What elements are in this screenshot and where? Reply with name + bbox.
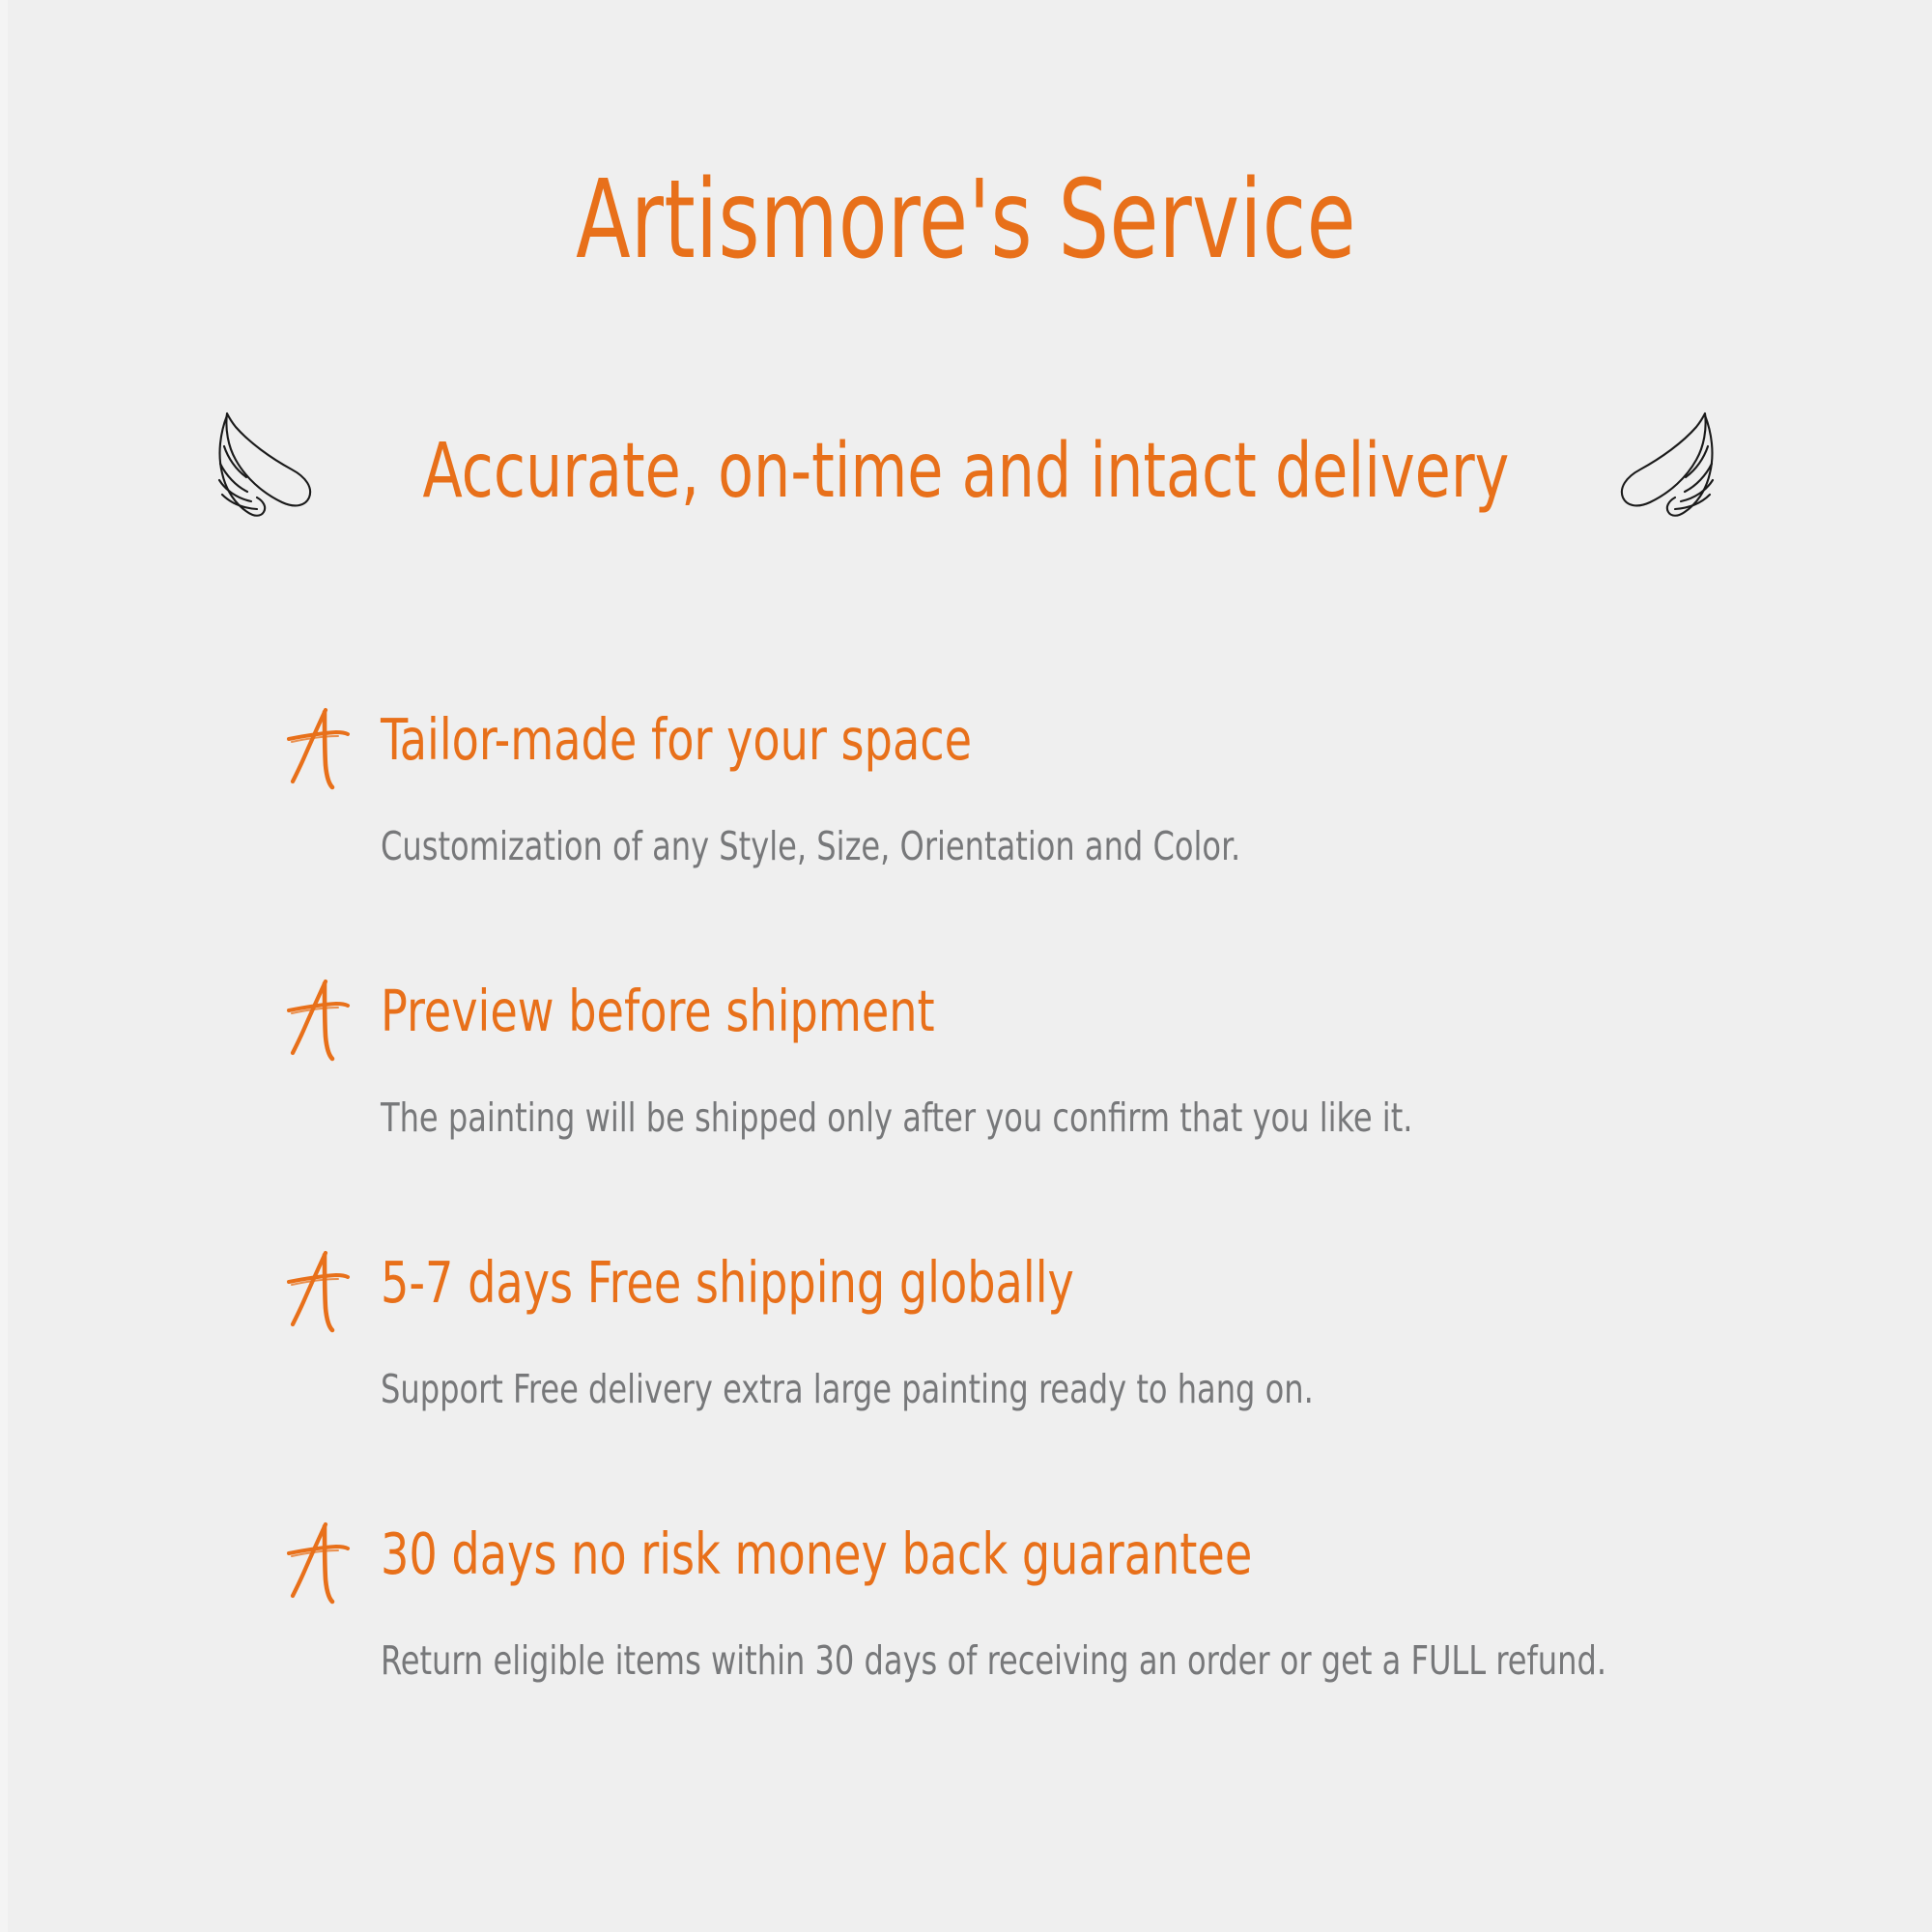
service-info-page: Artismore's Service Accurate, on-time an…	[0, 0, 1932, 1932]
feature-list: Tailor-made for your space Customization…	[286, 703, 1870, 1681]
feature-title: Preview before shipment	[381, 982, 935, 1039]
feature-heading-row: 5-7 days Free shipping globally	[286, 1246, 1870, 1333]
feature-heading-row: Tailor-made for your space	[286, 703, 1870, 790]
list-item: 30 days no risk money back guarantee Ret…	[286, 1518, 1870, 1681]
list-item: 5-7 days Free shipping globally Support …	[286, 1246, 1870, 1409]
feature-title: 30 days no risk money back guarantee	[381, 1525, 1252, 1582]
page-subtitle: Accurate, on-time and intact delivery	[417, 434, 1514, 509]
feature-heading-row: Preview before shipment	[286, 975, 1870, 1062]
script-a-icon	[286, 979, 352, 1062]
feature-title: Tailor-made for your space	[381, 711, 972, 768]
left-edge-strip	[0, 0, 8, 1932]
feature-description: Customization of any Style, Size, Orient…	[381, 827, 1677, 867]
script-a-icon	[286, 1250, 352, 1333]
script-a-icon	[286, 1521, 352, 1605]
feature-description: Return eligible items within 30 days of …	[381, 1641, 1677, 1681]
feature-heading-row: 30 days no risk money back guarantee	[286, 1518, 1870, 1605]
wing-icon	[1604, 404, 1729, 527]
wing-icon	[203, 404, 328, 527]
script-a-icon	[286, 707, 352, 790]
feature-description: The painting will be shipped only after …	[381, 1098, 1677, 1138]
feature-title: 5-7 days Free shipping globally	[381, 1254, 1074, 1311]
page-title: Artismore's Service	[174, 166, 1758, 274]
feature-description: Support Free delivery extra large painti…	[381, 1370, 1677, 1409]
list-item: Tailor-made for your space Customization…	[286, 703, 1870, 867]
list-item: Preview before shipment The painting wil…	[286, 975, 1870, 1138]
subtitle-row: Accurate, on-time and intact delivery	[0, 404, 1932, 527]
